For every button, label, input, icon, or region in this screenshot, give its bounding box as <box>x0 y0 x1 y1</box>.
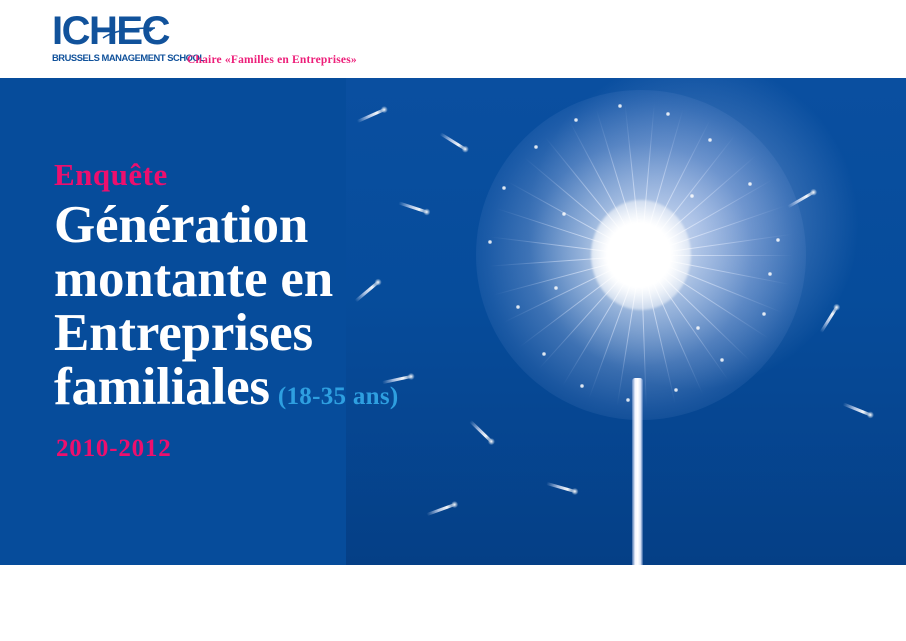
seedhead-core <box>591 200 691 310</box>
cover-title-block: Enquête Génération montante en Entrepris… <box>54 158 474 464</box>
ichec-wordmark: ICHEC <box>52 11 178 52</box>
dandelion-stem <box>632 378 643 565</box>
page-title: Génération montante en Entreprises famil… <box>54 198 474 424</box>
cover-years: 2010-2012 <box>56 434 474 464</box>
page-footer: En partenariat avec : Banque de Luxembou… <box>0 565 906 641</box>
chaire-label: Chaire «Familles en Entreprises» <box>187 54 357 66</box>
ichec-tagline: BRUSSELS MANAGEMENT SCHOOL <box>52 53 181 63</box>
dandelion-seedhead <box>476 90 806 420</box>
cover-page: ICHEC BRUSSELS MANAGEMENT SCHOOL Chaire … <box>0 0 906 641</box>
ichec-logo: ICHEC BRUSSELS MANAGEMENT SCHOOL <box>52 11 178 63</box>
page-header: ICHEC BRUSSELS MANAGEMENT SCHOOL Chaire … <box>0 0 906 78</box>
age-range-label: (18-35 ans) <box>278 383 399 410</box>
cover-kicker: Enquête <box>54 158 474 192</box>
